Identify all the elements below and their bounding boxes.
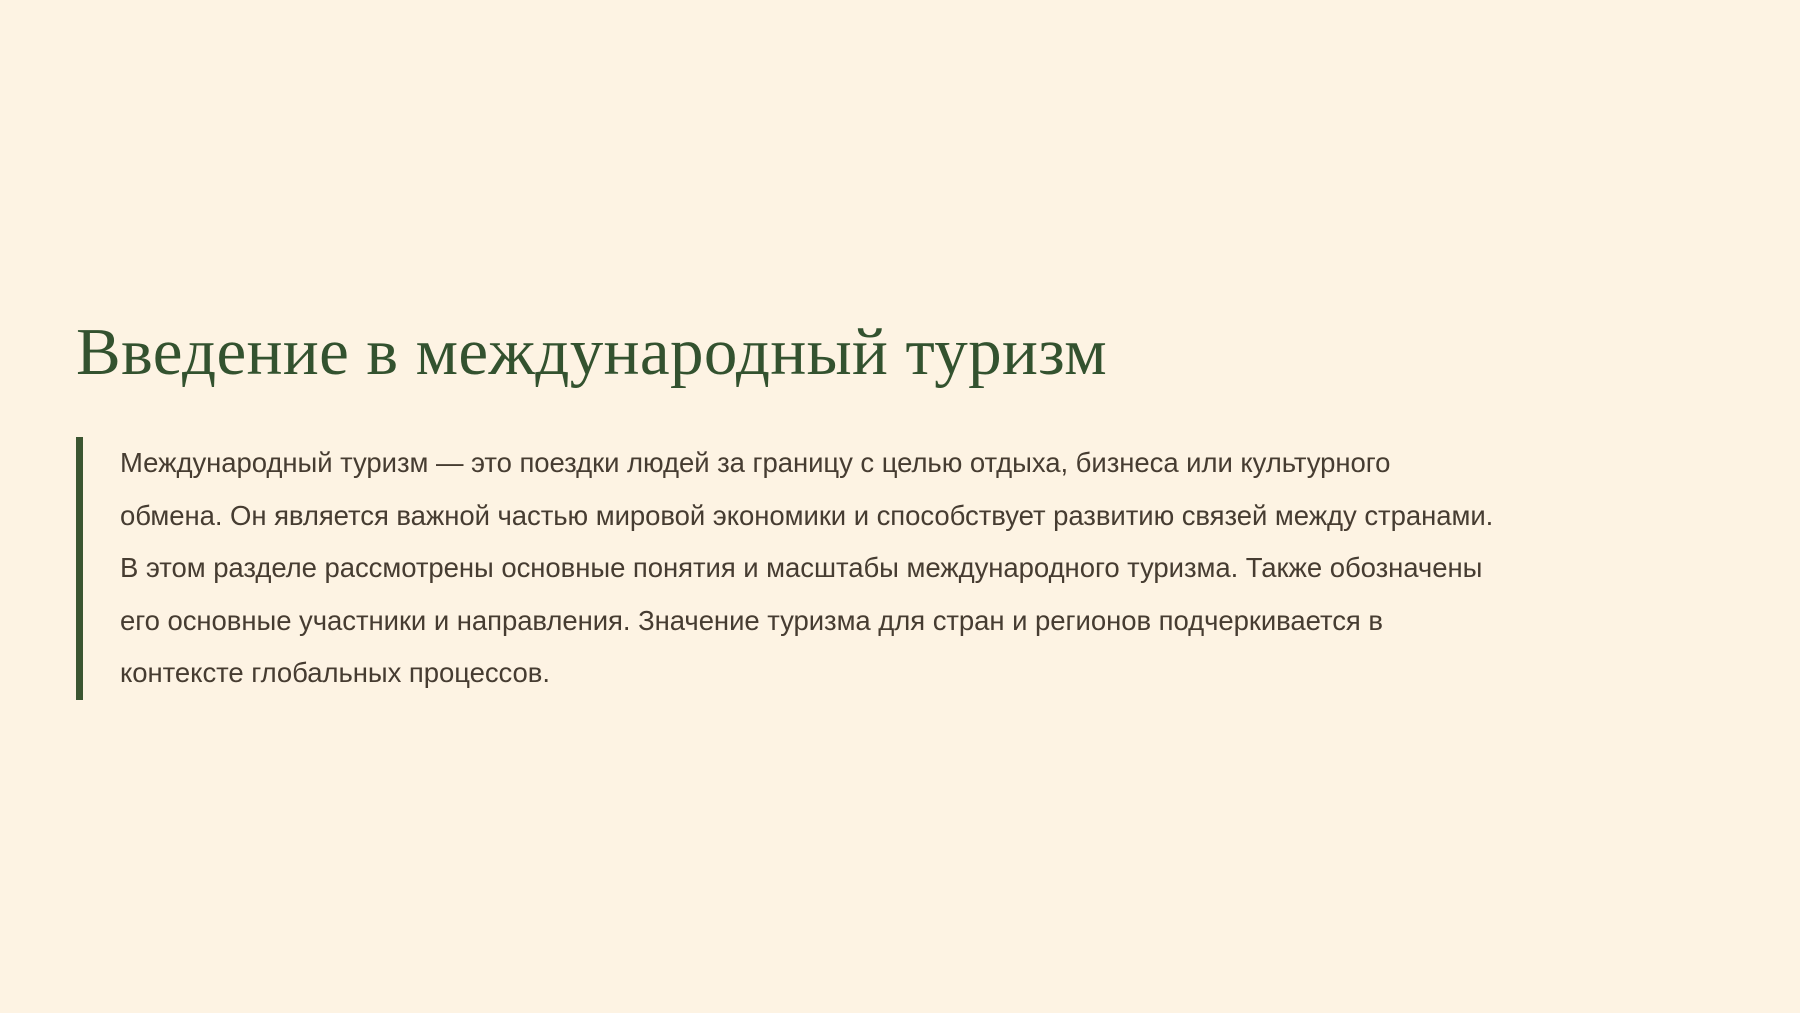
page-title: Введение в международный туризм xyxy=(76,316,1107,390)
body-block: Международный туризм — это поездки людей… xyxy=(76,437,1500,700)
accent-bar xyxy=(76,437,83,700)
body-paragraph: Международный туризм — это поездки людей… xyxy=(83,437,1500,700)
slide-root: Введение в международный туризм Междунар… xyxy=(0,0,1800,1013)
